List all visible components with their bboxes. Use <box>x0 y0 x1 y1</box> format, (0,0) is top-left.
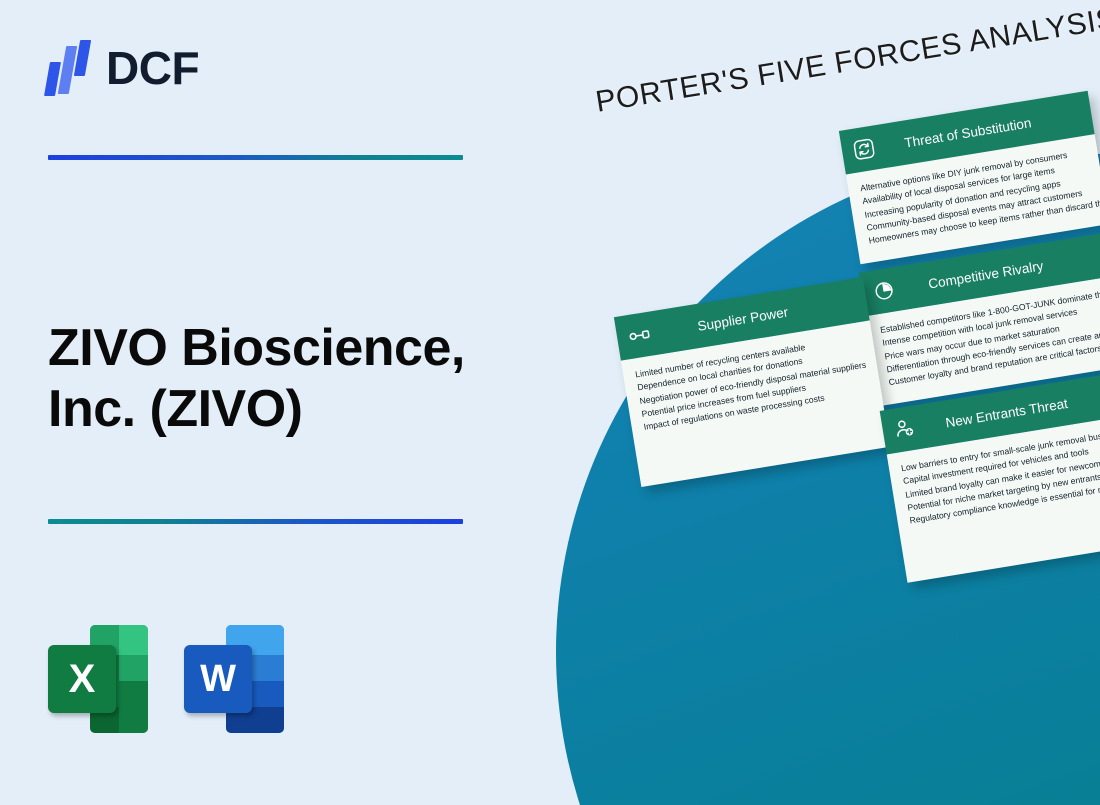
word-file-icon[interactable]: W <box>184 625 284 733</box>
excel-file-icon[interactable]: X <box>48 625 148 733</box>
excel-icon-letter: X <box>48 645 116 713</box>
word-icon-letter: W <box>184 645 252 713</box>
brand-logo-block[interactable]: DCF <box>46 40 199 96</box>
brand-name: DCF <box>106 45 199 91</box>
divider-top <box>48 155 463 160</box>
dcf-bars-icon <box>46 40 92 96</box>
divider-bottom <box>48 519 463 524</box>
download-format-icons: X W <box>48 625 284 733</box>
page-title: ZIVO Bioscience, Inc. (ZIVO) <box>48 318 518 440</box>
left-panel: DCF ZIVO Bioscience, Inc. (ZIVO) X W <box>0 0 560 805</box>
